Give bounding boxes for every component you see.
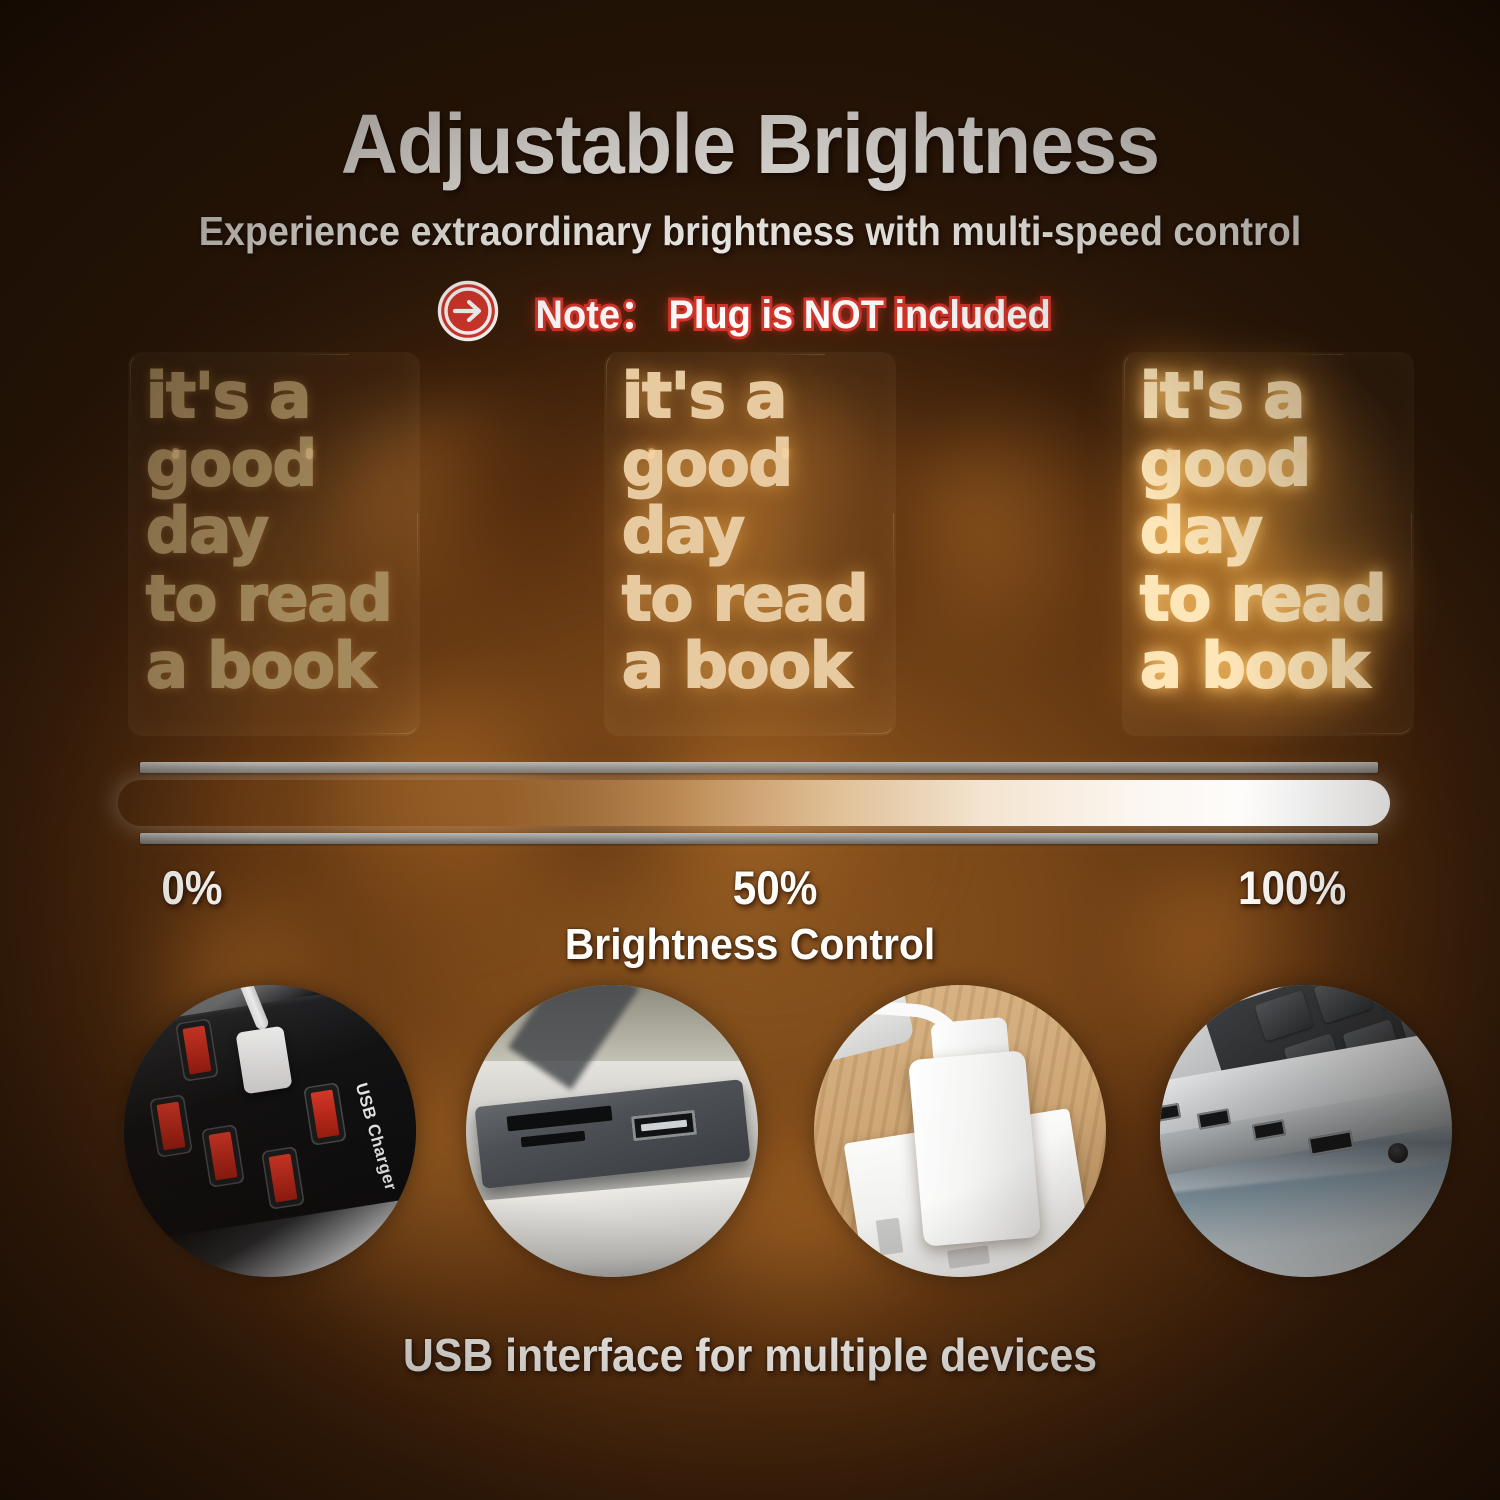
sign-message-off: it's a good day to read a book bbox=[128, 352, 420, 736]
photo-wall-adapter bbox=[814, 985, 1106, 1277]
photo-laptop-ports-image bbox=[1160, 985, 1452, 1277]
infographic-canvas: Adjustable Brightness Experience extraor… bbox=[0, 0, 1500, 1500]
sign-mount-screw bbox=[648, 448, 655, 459]
page-title: Adjustable Brightness bbox=[45, 96, 1455, 193]
photo-row-caption: USB interface for multiple devices bbox=[53, 1328, 1448, 1382]
brightness-gradient-bar[interactable] bbox=[118, 780, 1390, 826]
arrow-right-circle-icon bbox=[436, 279, 500, 343]
sign-message-bright: it's a good day to read a book bbox=[1122, 352, 1414, 736]
neon-sign-off: it's a good day to read a book bbox=[128, 352, 420, 736]
slider-rail-bottom bbox=[140, 833, 1378, 844]
slider-tick-100: 100% bbox=[1238, 860, 1346, 915]
sign-mount-screw bbox=[306, 448, 313, 459]
photo-wall-adapter-image bbox=[814, 985, 1106, 1277]
brightness-control-label: Brightness Control bbox=[53, 920, 1448, 970]
photo-laptop-ports bbox=[1160, 985, 1452, 1277]
neon-sign-row: it's a good day to read a book it's a go… bbox=[0, 352, 1500, 742]
sign-mount-screw bbox=[782, 448, 789, 459]
note-text: Note： Plug is NOT included bbox=[535, 282, 1050, 340]
sign-mount-screw bbox=[172, 448, 179, 459]
neon-sign-bright: it's a good day to read a book bbox=[1122, 352, 1414, 736]
photo-usb-hub-image bbox=[466, 985, 758, 1277]
photo-usb-hub bbox=[466, 985, 758, 1277]
note-banner: Note： Plug is NOT included bbox=[0, 279, 1500, 343]
photo-usb-charger-strip: USB Charger bbox=[124, 985, 416, 1277]
slider-tick-50: 50% bbox=[733, 860, 818, 915]
sign-mount-screw bbox=[1166, 448, 1173, 459]
page-subtitle: Experience extraordinary brightness with… bbox=[60, 208, 1440, 255]
slider-rail-top bbox=[140, 762, 1378, 773]
photo-usb-charger-image: USB Charger bbox=[124, 985, 416, 1277]
slider-tick-0: 0% bbox=[161, 860, 222, 915]
neon-sign-dim: it's a good day to read a book bbox=[604, 352, 896, 736]
sign-mount-screw bbox=[1300, 448, 1307, 459]
sign-message-dim: it's a good day to read a book bbox=[604, 352, 896, 736]
photo-row: USB Charger bbox=[0, 985, 1500, 1277]
